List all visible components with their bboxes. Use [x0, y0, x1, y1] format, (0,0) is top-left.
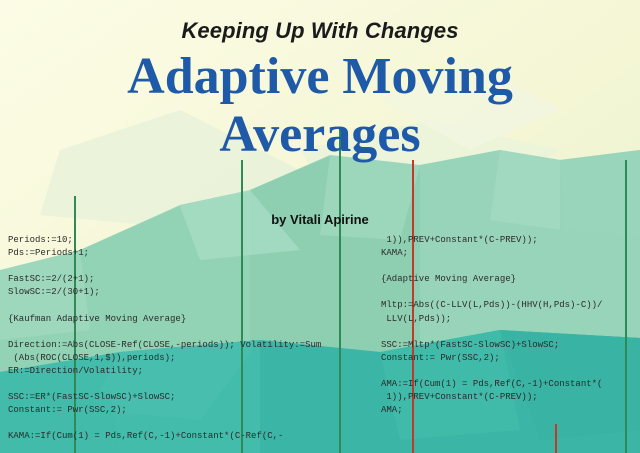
- code-left-line-9: (Abs(ROC(CLOSE,1,$)),periods);: [8, 352, 380, 365]
- code-left-line-12: SSC:=ER*(FastSC-SlowSC)+SlowSC;: [8, 391, 380, 404]
- code-right-line-11: AMA:=If(Cum(1) = Pds,Ref(C,-1)+Constant*…: [381, 378, 640, 391]
- headline-line-1: Adaptive Moving: [0, 48, 640, 106]
- code-right-line-1: KAMA;: [381, 247, 640, 260]
- code-left-line-3: FastSC:=2/(2+1);: [8, 273, 380, 286]
- code-right-line-12: 1)),PREV+Constant*(C-PREV));: [381, 391, 640, 404]
- code-left-line-11: [8, 378, 380, 391]
- code-left-line-6: {Kaufman Adaptive Moving Average}: [8, 313, 380, 326]
- poster-article-header: Periods:=10;Pds:=Periods+1; FastSC:=2/(2…: [0, 0, 640, 453]
- code-left-line-15: KAMA:=If(Cum(1) = Pds,Ref(C,-1)+Constant…: [8, 430, 380, 443]
- kicker-text: Keeping Up With Changes: [0, 18, 640, 44]
- code-right-line-6: LLV(L,Pds));: [381, 313, 640, 326]
- code-right-line-9: Constant:= Pwr(SSC,2);: [381, 352, 640, 365]
- code-right-line-13: AMA;: [381, 404, 640, 417]
- code-right-line-5: Mltp:=Abs((C-LLV(L,Pds))-(HHV(H,Pds)-C))…: [381, 299, 640, 312]
- code-left-line-4: SlowSC:=2/(30+1);: [8, 286, 380, 299]
- code-left-line-5: [8, 299, 380, 312]
- code-right-line-0: 1)),PREV+Constant*(C-PREV));: [381, 234, 640, 247]
- code-left-line-1: Pds:=Periods+1;: [8, 247, 380, 260]
- code-block-left: Periods:=10;Pds:=Periods+1; FastSC:=2/(2…: [8, 234, 380, 444]
- vrule-red-2: [555, 424, 557, 453]
- code-left-line-13: Constant:= Pwr(SSC,2);: [8, 404, 380, 417]
- code-block-right: 1)),PREV+Constant*(C-PREV));KAMA; {Adapt…: [381, 234, 640, 417]
- code-left-line-0: Periods:=10;: [8, 234, 380, 247]
- code-right-line-8: SSC:=Mltp*(FastSC-SlowSC)+SlowSC;: [381, 339, 640, 352]
- code-left-line-10: ER:=Direction/Volatility;: [8, 365, 380, 378]
- code-right-line-10: [381, 365, 640, 378]
- code-right-line-4: [381, 286, 640, 299]
- byline-author: by Vitali Apirine: [0, 212, 640, 227]
- code-right-line-7: [381, 326, 640, 339]
- code-left-line-14: [8, 417, 380, 430]
- headline-line-2: Averages: [0, 106, 640, 164]
- code-right-line-2: [381, 260, 640, 273]
- code-left-line-7: [8, 326, 380, 339]
- code-right-line-3: {Adaptive Moving Average}: [381, 273, 640, 286]
- code-left-line-2: [8, 260, 380, 273]
- page-title: Adaptive Moving Averages: [0, 48, 640, 164]
- code-left-line-8: Direction:=Abs(CLOSE-Ref(CLOSE,-periods)…: [8, 339, 380, 352]
